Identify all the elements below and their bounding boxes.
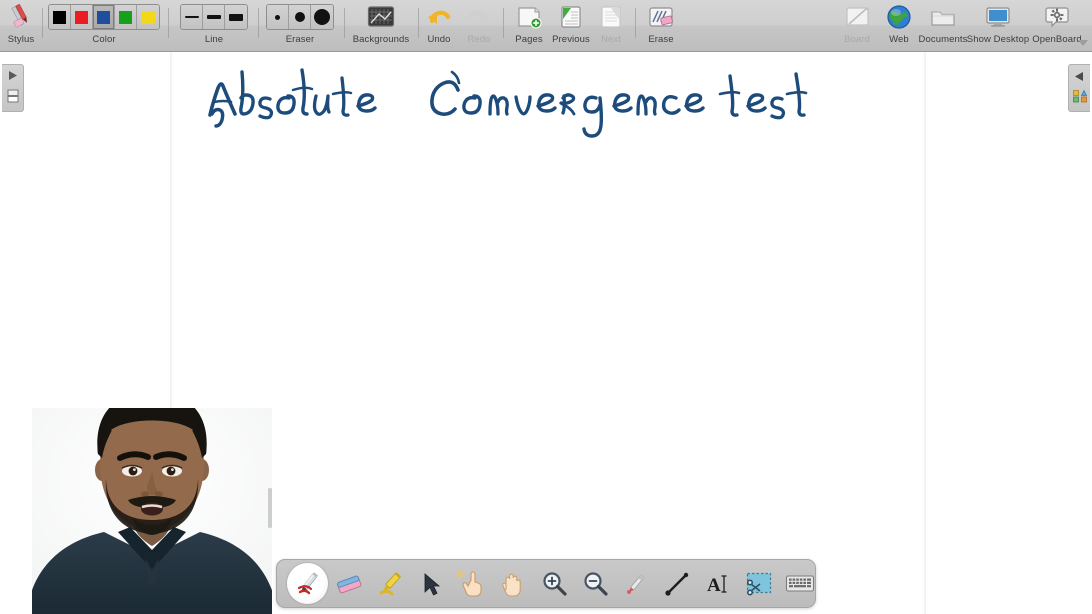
toolbar-group-color: Color — [46, 2, 162, 50]
tool-eraser[interactable] — [328, 563, 369, 604]
toolbar-label-pages: Pages — [515, 34, 542, 45]
toolbar-button-undo[interactable]: Undo — [422, 2, 456, 50]
pages-thumbnail-icon — [7, 89, 19, 108]
right-panel-tab[interactable] — [1068, 64, 1090, 112]
redo-arrow-icon — [465, 2, 493, 32]
toolbar-label-documents: Documents — [919, 34, 968, 45]
toolbar-button-erase[interactable]: Erase — [640, 2, 682, 50]
tool-capture[interactable] — [738, 563, 779, 604]
eraser-size-small[interactable] — [267, 5, 289, 29]
toolbar-button-previous[interactable]: Previous — [549, 2, 593, 50]
eraser-size-medium[interactable] — [289, 5, 311, 29]
toolbar-button-backgrounds[interactable]: Backgrounds — [350, 2, 412, 50]
library-shapes-icon — [1073, 90, 1087, 108]
globe-icon — [886, 2, 912, 32]
tool-hand[interactable] — [492, 563, 533, 604]
pen-icon — [293, 569, 323, 599]
presenter-video — [32, 408, 272, 614]
backgrounds-icon — [367, 2, 395, 32]
erase-board-icon — [647, 2, 675, 32]
toolbar-label-board: Board — [844, 34, 870, 45]
folder-icon — [929, 2, 957, 32]
color-swatch-yellow[interactable] — [137, 5, 159, 29]
marker-icon — [375, 569, 405, 599]
svg-text:A: A — [707, 575, 721, 596]
toolbar-label-color: Color — [92, 34, 115, 45]
toolbar-label-web: Web — [889, 34, 909, 45]
scissors-capture-icon — [745, 571, 773, 597]
toolbar-label-next: Next — [601, 34, 621, 45]
laser-pointer-icon — [622, 570, 650, 598]
toolbar-label-line: Line — [205, 34, 223, 45]
toolbar-button-show-desktop[interactable]: Show Desktop — [966, 2, 1030, 50]
undo-arrow-icon — [425, 2, 453, 32]
top-toolbar: Stylus Color — [0, 0, 1092, 52]
toolbar-label-redo: Redo — [467, 34, 490, 45]
pointing-hand-icon — [457, 570, 487, 598]
left-panel-tab[interactable] — [2, 64, 24, 112]
eraser-size-box — [266, 4, 334, 30]
line-width-thin[interactable] — [181, 5, 203, 29]
toolbar-button-pages[interactable]: Pages — [508, 2, 550, 50]
bottom-tool-palette: A — [276, 559, 816, 608]
toolbar-button-board[interactable]: Board — [836, 2, 878, 50]
magnifier-plus-icon — [540, 570, 568, 598]
line-width-box — [180, 4, 248, 30]
line-width-medium[interactable] — [203, 5, 225, 29]
right-panel-arrow-left-icon — [1074, 69, 1085, 87]
color-swatch-box — [48, 4, 160, 30]
color-swatch-black[interactable] — [49, 5, 71, 29]
page-right-edge — [923, 52, 926, 614]
toolbar-button-openboard[interactable]: OpenBoard — [1030, 2, 1084, 50]
left-panel-arrow-right-icon — [7, 68, 18, 86]
toolbar-group-eraser: Eraser — [264, 2, 336, 50]
text-tool-icon: A — [704, 570, 732, 598]
toolbar-button-web[interactable]: Web — [882, 2, 916, 50]
color-swatch-blue[interactable] — [93, 5, 115, 29]
gear-bubble-icon — [1043, 2, 1071, 32]
toolbar-label-undo: Undo — [427, 34, 450, 45]
color-swatch-red[interactable] — [71, 5, 93, 29]
eraser-icon — [334, 571, 364, 597]
tool-select[interactable] — [410, 563, 451, 604]
tool-pen[interactable] — [287, 563, 328, 604]
toolbar-label-openboard: OpenBoard — [1032, 34, 1082, 45]
tool-marker[interactable] — [369, 563, 410, 604]
tool-text[interactable]: A — [697, 563, 738, 604]
stylus-icon — [6, 2, 36, 32]
handwriting-stroke-absolute-convergence-test — [190, 52, 830, 162]
new-page-icon — [515, 2, 543, 32]
toolbar-label-erase: Erase — [648, 34, 673, 45]
tool-laser[interactable] — [615, 563, 656, 604]
line-tool-icon — [663, 570, 691, 598]
monitor-icon — [984, 2, 1012, 32]
toolbar-button-redo[interactable]: Redo — [462, 2, 496, 50]
previous-page-icon — [557, 2, 585, 32]
tool-interact[interactable] — [451, 563, 492, 604]
toolbar-button-next[interactable]: Next — [594, 2, 628, 50]
color-swatch-green[interactable] — [115, 5, 137, 29]
toolbar-button-stylus[interactable]: Stylus — [4, 2, 38, 50]
board-icon — [843, 2, 871, 32]
toolbar-label-previous: Previous — [552, 34, 590, 45]
tool-zoom-in[interactable] — [533, 563, 574, 604]
eraser-size-large[interactable] — [311, 5, 333, 29]
line-width-thick[interactable] — [225, 5, 247, 29]
tool-keyboard[interactable] — [779, 563, 820, 604]
toolbar-label-show-desktop: Show Desktop — [967, 34, 1029, 45]
tool-line[interactable] — [656, 563, 697, 604]
toolbar-button-documents[interactable]: Documents — [918, 2, 968, 50]
next-page-icon — [597, 2, 625, 32]
toolbar-group-line: Line — [176, 2, 252, 50]
magnifier-minus-icon — [581, 570, 609, 598]
toolbar-label-eraser: Eraser — [286, 34, 315, 45]
arrow-cursor-icon — [419, 571, 443, 597]
tool-zoom-out[interactable] — [574, 563, 615, 604]
open-hand-icon — [499, 570, 527, 598]
keyboard-icon — [785, 573, 815, 595]
toolbar-label-backgrounds: Backgrounds — [353, 34, 410, 45]
toolbar-label-stylus: Stylus — [8, 34, 34, 45]
toolbar-overflow-chevron-down-icon[interactable] — [1078, 34, 1088, 52]
